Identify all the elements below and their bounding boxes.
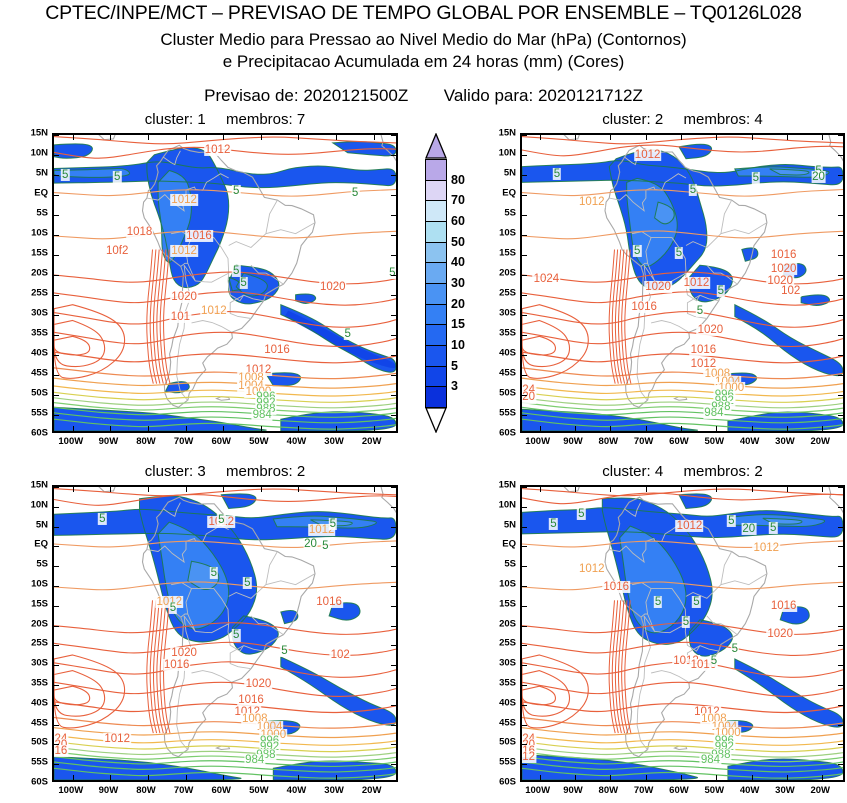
- y-axis-tick: [522, 645, 527, 646]
- y-axis-tick: [522, 295, 527, 296]
- y-axis-tick: [54, 175, 59, 176]
- y-axis-tick: [838, 215, 843, 216]
- cluster-label: cluster:: [602, 463, 650, 480]
- x-axis-tick: [540, 487, 541, 492]
- x-axis-tick: [752, 775, 753, 780]
- y-axis-tick: [838, 295, 843, 296]
- x-axis-tick: [374, 135, 375, 140]
- x-axis-tick: [822, 487, 823, 492]
- colorbar-tick-label: 3: [451, 379, 458, 393]
- x-axis-label: 50W: [249, 785, 269, 796]
- y-axis-tick: [391, 135, 396, 136]
- isobar-label: 1016: [770, 249, 798, 261]
- y-axis-label: 35S: [31, 328, 48, 339]
- y-axis-tick: [391, 315, 396, 316]
- x-axis-label: 100W: [58, 436, 83, 447]
- y-axis-label: 15S: [31, 598, 48, 609]
- y-axis-label: 10N: [499, 148, 516, 159]
- x-axis-tick: [336, 135, 337, 140]
- precipitation-value-label: 5: [769, 522, 777, 534]
- x-axis-tick: [575, 487, 576, 492]
- x-axis-label: 30W: [324, 436, 344, 447]
- x-axis-tick: [716, 487, 717, 492]
- y-axis-label: 20S: [31, 618, 48, 629]
- y-axis-label: 55S: [31, 408, 48, 419]
- y-axis-tick: [838, 315, 843, 316]
- precipitation-value-label: 5: [692, 596, 700, 608]
- y-axis-tick: [522, 606, 527, 607]
- x-axis-tick: [646, 426, 647, 431]
- y-axis-tick: [522, 235, 527, 236]
- y-axis-tick: [838, 395, 843, 396]
- x-axis-tick: [787, 135, 788, 140]
- figure-subtitle-line1: Cluster Medio para Pressao ao Nivel Medi…: [0, 30, 847, 50]
- precipitation-value-label: 5: [329, 518, 337, 530]
- precipitation-value-label: 5: [343, 328, 351, 340]
- colorbar-tick-label: 15: [451, 317, 465, 331]
- isobar-label: 102: [330, 649, 351, 661]
- isobar-label: 1012: [578, 196, 606, 208]
- plot-area-cluster-3: 1012101210121016102010161020102101610121…: [52, 485, 398, 782]
- y-axis-tick: [838, 415, 843, 416]
- colorbar-band: [425, 386, 447, 408]
- y-axis-tick: [54, 315, 59, 316]
- map-canvas-cluster-1: 1012101210161012102010121020101610121008…: [54, 135, 396, 431]
- x-axis-label: 30W: [324, 785, 344, 796]
- y-axis-tick: [54, 527, 59, 528]
- y-axis-tick: [522, 275, 527, 276]
- x-axis-tick: [374, 426, 375, 431]
- y-axis-tick: [522, 155, 527, 156]
- forecast-from-value: 2020121500Z: [303, 86, 408, 105]
- map-panel-cluster-3: cluster: 3 membros: 2 101210121012101610…: [52, 485, 398, 782]
- y-axis-tick: [391, 295, 396, 296]
- isobar-label: 1012: [634, 149, 662, 161]
- y-axis-label: 40S: [499, 697, 516, 708]
- y-axis-tick: [391, 566, 396, 567]
- y-axis-label: 15N: [499, 480, 516, 491]
- x-axis-tick: [223, 775, 224, 780]
- y-axis-tick: [522, 195, 527, 196]
- x-axis-tick: [822, 135, 823, 140]
- x-axis-label: 100W: [525, 436, 550, 447]
- y-axis-label: 30S: [499, 308, 516, 319]
- y-axis-tick: [54, 215, 59, 216]
- y-axis-tick: [391, 645, 396, 646]
- x-axis-tick: [186, 487, 187, 492]
- x-axis-tick: [148, 426, 149, 431]
- panel-caption-cluster-2: cluster: 2 membros: 4: [520, 111, 845, 128]
- isobar-label: 10f2: [105, 245, 129, 257]
- x-axis-tick: [261, 135, 262, 140]
- y-axis-label: 30S: [499, 658, 516, 669]
- isobar-label: 1020: [170, 647, 198, 659]
- x-axis-label: 60W: [669, 785, 689, 796]
- y-axis-tick: [391, 665, 396, 666]
- y-axis-label: 30S: [31, 658, 48, 669]
- precipitation-value-label: 5: [710, 655, 718, 667]
- y-axis-tick: [391, 546, 396, 547]
- x-axis-tick: [73, 487, 74, 492]
- x-axis-tick: [261, 487, 262, 492]
- x-axis-label: 70W: [174, 785, 194, 796]
- members-value: 2: [297, 463, 305, 480]
- y-axis-tick: [391, 744, 396, 745]
- isobar-label: 1016: [770, 600, 798, 612]
- y-axis-tick: [54, 665, 59, 666]
- precipitation-value-label: 5: [717, 285, 725, 297]
- y-axis-label: 10S: [499, 579, 516, 590]
- isobar-label: 1020: [766, 627, 794, 639]
- y-axis-label: EQ: [502, 188, 516, 199]
- y-axis-tick: [522, 546, 527, 547]
- y-axis-tick: [522, 487, 527, 488]
- y-axis-label: 15N: [31, 128, 48, 139]
- y-axis-label: 20S: [499, 618, 516, 629]
- members-value: 7: [297, 111, 305, 128]
- y-axis-label: 25S: [31, 638, 48, 649]
- valid-for-value: 2020121712Z: [538, 86, 643, 105]
- x-axis-tick: [787, 775, 788, 780]
- x-axis-label: 90W: [99, 785, 119, 796]
- colorbar-lower-arrow: [425, 407, 447, 433]
- map-canvas-cluster-2: 1012101210161020102010121016102010210201…: [522, 135, 843, 431]
- y-axis-tick: [54, 586, 59, 587]
- isobar-label: 1012: [683, 277, 711, 289]
- y-axis-tick: [54, 275, 59, 276]
- isobar-label: 1020: [245, 678, 273, 690]
- members-label: membros:: [226, 111, 293, 128]
- y-axis-label: 60S: [31, 428, 48, 439]
- colorbar-tick-label: 40: [451, 255, 465, 269]
- x-axis-tick: [223, 135, 224, 140]
- map-panel-cluster-4: cluster: 4 membros: 2 101210121012101610…: [520, 485, 845, 782]
- y-axis-label: 50S: [499, 737, 516, 748]
- x-axis-label: 100W: [58, 785, 83, 796]
- colorbar-band: [425, 180, 447, 202]
- plot-area-cluster-2: 1012101210161020102010121016102010210201…: [520, 133, 845, 433]
- x-axis-tick: [223, 487, 224, 492]
- isobar-label: 1020: [644, 281, 672, 293]
- y-axis-tick: [522, 665, 527, 666]
- y-axis-label: 15N: [31, 480, 48, 491]
- y-axis-tick: [391, 764, 396, 765]
- x-axis-tick: [298, 487, 299, 492]
- y-axis-tick: [838, 764, 843, 765]
- y-axis-label: 10N: [31, 148, 48, 159]
- y-axis-tick: [391, 606, 396, 607]
- y-axis-label: 10S: [499, 228, 516, 239]
- y-axis-label: 20S: [499, 268, 516, 279]
- y-axis-tick: [522, 315, 527, 316]
- y-axis-label: 45S: [31, 368, 48, 379]
- y-axis-tick: [838, 175, 843, 176]
- isobar-label: 1012: [200, 305, 228, 317]
- x-axis-tick: [261, 775, 262, 780]
- x-axis-tick: [787, 426, 788, 431]
- x-axis-tick: [374, 775, 375, 780]
- y-axis-label: 55S: [31, 757, 48, 768]
- colorbar-band: [425, 242, 447, 264]
- y-axis-tick: [522, 626, 527, 627]
- cluster-label: cluster:: [145, 463, 193, 480]
- x-axis-label: 40W: [287, 785, 307, 796]
- precipitation-value-label: 5: [239, 277, 247, 289]
- y-axis-tick: [522, 725, 527, 726]
- y-axis-tick: [522, 744, 527, 745]
- x-axis-tick: [374, 487, 375, 492]
- x-axis-label: 70W: [634, 785, 654, 796]
- colorbar-band: [425, 283, 447, 305]
- x-axis-tick: [73, 135, 74, 140]
- cluster-value: 4: [655, 463, 663, 480]
- isobar-label: 1012: [170, 245, 198, 257]
- colorbar-tick-label: 10: [451, 338, 465, 352]
- y-axis-tick: [522, 255, 527, 256]
- x-axis-tick: [110, 135, 111, 140]
- x-axis-tick: [822, 775, 823, 780]
- isobar-label: 1016: [263, 344, 291, 356]
- cluster-value: 1: [197, 111, 205, 128]
- members-value: 2: [754, 463, 762, 480]
- isobar-label: 1018: [126, 226, 154, 238]
- y-axis-label: 45S: [31, 717, 48, 728]
- y-axis-tick: [838, 135, 843, 136]
- plot-area-cluster-1: 1012101210161012102010121020101610121008…: [52, 133, 398, 433]
- x-axis-label: 60W: [669, 436, 689, 447]
- precipitation-value-label: 5: [577, 508, 585, 520]
- y-axis-tick: [391, 487, 396, 488]
- y-axis-tick: [838, 626, 843, 627]
- x-axis-label: 80W: [599, 785, 619, 796]
- y-axis-tick: [391, 235, 396, 236]
- isobar-label: 1012: [676, 520, 704, 532]
- y-axis-tick: [522, 415, 527, 416]
- map-panel-cluster-2: cluster: 2 membros: 4 101210121016102010…: [520, 133, 845, 433]
- x-axis-tick: [223, 426, 224, 431]
- members-value: 4: [754, 111, 762, 128]
- precipitation-value-label: 5: [169, 602, 177, 614]
- x-axis-tick: [646, 135, 647, 140]
- colorbar-tick-label: 5: [451, 359, 458, 373]
- y-axis-tick: [838, 606, 843, 607]
- precipitation-value-label: 20: [811, 171, 826, 183]
- colorbar-band: [425, 159, 447, 181]
- y-axis-label: 55S: [499, 408, 516, 419]
- y-axis-tick: [54, 395, 59, 396]
- y-axis-tick: [522, 215, 527, 216]
- x-axis-tick: [148, 135, 149, 140]
- y-axis-label: 5N: [504, 168, 516, 179]
- x-axis-tick: [822, 426, 823, 431]
- precipitation-value-label: 5: [280, 645, 288, 657]
- y-axis-tick: [522, 764, 527, 765]
- x-axis-label: 90W: [99, 436, 119, 447]
- y-axis-label: 15S: [499, 598, 516, 609]
- x-axis-tick: [575, 135, 576, 140]
- x-axis-tick: [752, 135, 753, 140]
- x-axis-tick: [261, 426, 262, 431]
- x-axis-tick: [540, 775, 541, 780]
- isobar-label: 1012: [752, 542, 780, 554]
- isobar-label: 1012: [204, 144, 232, 156]
- y-axis-label: 5N: [36, 519, 48, 530]
- y-axis-tick: [54, 606, 59, 607]
- x-axis-label: 90W: [563, 436, 583, 447]
- y-axis-tick: [391, 527, 396, 528]
- y-axis-tick: [838, 235, 843, 236]
- y-axis-tick: [522, 705, 527, 706]
- x-axis-tick: [186, 135, 187, 140]
- x-axis-label: 80W: [599, 436, 619, 447]
- y-axis-tick: [391, 155, 396, 156]
- x-axis-tick: [610, 487, 611, 492]
- y-axis-label: 10N: [499, 499, 516, 510]
- y-axis-tick: [54, 335, 59, 336]
- figure-subtitle-line2: e Precipitacao Acumulada em 24 horas (mm…: [0, 52, 847, 72]
- y-axis-label: 45S: [499, 368, 516, 379]
- x-axis-tick: [752, 426, 753, 431]
- isobar-label: 012: [522, 751, 536, 763]
- colorbar-band: [425, 304, 447, 326]
- y-axis-tick: [522, 527, 527, 528]
- y-axis-label: 15S: [499, 248, 516, 259]
- x-axis-tick: [716, 775, 717, 780]
- y-axis-tick: [54, 705, 59, 706]
- y-axis-tick: [522, 586, 527, 587]
- figure-institution-title: CPTEC/INPE/MCT – PREVISAO DE TEMPO GLOBA…: [0, 2, 847, 25]
- y-axis-tick: [54, 744, 59, 745]
- isobar-label: 1016: [690, 344, 718, 356]
- colorbar-band: [425, 221, 447, 243]
- forecast-figure: CPTEC/INPE/MCT – PREVISAO DE TEMPO GLOBA…: [0, 0, 847, 803]
- isobar-label: 984: [700, 754, 721, 766]
- y-axis-label: 30S: [31, 308, 48, 319]
- x-axis-tick: [110, 487, 111, 492]
- y-axis-tick: [54, 135, 59, 136]
- y-axis-tick: [838, 507, 843, 508]
- precipitation-value-label: 5: [752, 172, 760, 184]
- colorbar-tick-label: 30: [451, 276, 465, 290]
- x-axis-label: 50W: [249, 436, 269, 447]
- isobar-label: 1020: [319, 281, 347, 293]
- y-axis-tick: [391, 175, 396, 176]
- y-axis-label: 45S: [499, 717, 516, 728]
- y-axis-tick: [391, 626, 396, 627]
- isobar-label: 984: [703, 407, 724, 419]
- y-axis-tick: [522, 507, 527, 508]
- x-axis-tick: [186, 775, 187, 780]
- x-axis-tick: [73, 426, 74, 431]
- y-axis-label: 5S: [36, 559, 48, 570]
- precipitation-value-label: 5: [98, 513, 106, 525]
- precipitation-value-label: 5: [232, 185, 240, 197]
- x-axis-label: 70W: [174, 436, 194, 447]
- y-axis-tick: [54, 235, 59, 236]
- y-axis-tick: [522, 375, 527, 376]
- isobar-label: 1024: [533, 273, 561, 285]
- precipitation-value-label: 5: [113, 171, 121, 183]
- precipitation-value-label: 5: [351, 187, 359, 199]
- y-axis-tick: [391, 335, 396, 336]
- x-axis-tick: [787, 487, 788, 492]
- map-canvas-cluster-4: 1012101210121016101610201012101610121008…: [522, 487, 843, 780]
- colorbar-tick-label: 50: [451, 235, 465, 249]
- isobar-label: 102: [780, 285, 801, 297]
- cluster-value: 2: [655, 111, 663, 128]
- isobar-label: 1016: [237, 694, 265, 706]
- y-axis-tick: [54, 764, 59, 765]
- precipitation-value-label: 5: [689, 184, 697, 196]
- y-axis-tick: [838, 586, 843, 587]
- precipitation-value-label: 5: [675, 247, 683, 259]
- x-axis-label: 80W: [136, 436, 156, 447]
- precipitation-value-label: 5: [696, 305, 704, 317]
- y-axis-label: 25S: [31, 288, 48, 299]
- x-axis-tick: [575, 426, 576, 431]
- y-axis-label: 55S: [499, 757, 516, 768]
- y-axis-tick: [391, 507, 396, 508]
- x-axis-tick: [610, 426, 611, 431]
- x-axis-tick: [575, 775, 576, 780]
- isobar-label: 020: [522, 391, 536, 403]
- precipitation-colorbar: 35101520304050607080: [425, 133, 447, 433]
- y-axis-label: 50S: [31, 737, 48, 748]
- x-axis-tick: [681, 775, 682, 780]
- panel-caption-cluster-4: cluster: 4 membros: 2: [520, 463, 845, 480]
- y-axis-tick: [391, 275, 396, 276]
- x-axis-tick: [186, 426, 187, 431]
- y-axis-tick: [391, 215, 396, 216]
- isobar-label: 1020: [170, 291, 198, 303]
- y-axis-label: 10N: [31, 499, 48, 510]
- y-axis-tick: [391, 195, 396, 196]
- y-axis-label: 60S: [31, 777, 48, 788]
- colorbar-band: [425, 345, 447, 367]
- precipitation-value-label: 5: [232, 265, 240, 277]
- colorbar-tick-label: 20: [451, 297, 465, 311]
- y-axis-tick: [54, 155, 59, 156]
- y-axis-label: 40S: [31, 697, 48, 708]
- precipitation-value-label: 5: [682, 616, 690, 628]
- y-axis-label: EQ: [34, 188, 48, 199]
- precipitation-value-label: 20: [303, 538, 318, 550]
- x-axis-label: 20W: [362, 436, 382, 447]
- valid-for-label: Valido para:: [444, 86, 533, 105]
- x-axis-label: 20W: [810, 436, 830, 447]
- x-axis-tick: [610, 775, 611, 780]
- y-axis-tick: [522, 395, 527, 396]
- x-axis-tick: [298, 135, 299, 140]
- isobar-label: 1012: [103, 733, 131, 745]
- x-axis-tick: [716, 135, 717, 140]
- colorbar-band: [425, 200, 447, 222]
- y-axis-tick: [838, 685, 843, 686]
- y-axis-tick: [391, 395, 396, 396]
- y-axis-tick: [522, 335, 527, 336]
- x-axis-tick: [73, 775, 74, 780]
- forecast-from-label: Previsao de:: [204, 86, 299, 105]
- x-axis-tick: [148, 775, 149, 780]
- isobar-label: 1012: [578, 563, 606, 575]
- colorbar-band: [425, 262, 447, 284]
- isobar-label: 1020: [697, 324, 725, 336]
- y-axis-tick: [391, 415, 396, 416]
- x-axis-label: 60W: [211, 785, 231, 796]
- y-axis-label: 5S: [504, 208, 516, 219]
- x-axis-label: 90W: [563, 785, 583, 796]
- y-axis-tick: [391, 685, 396, 686]
